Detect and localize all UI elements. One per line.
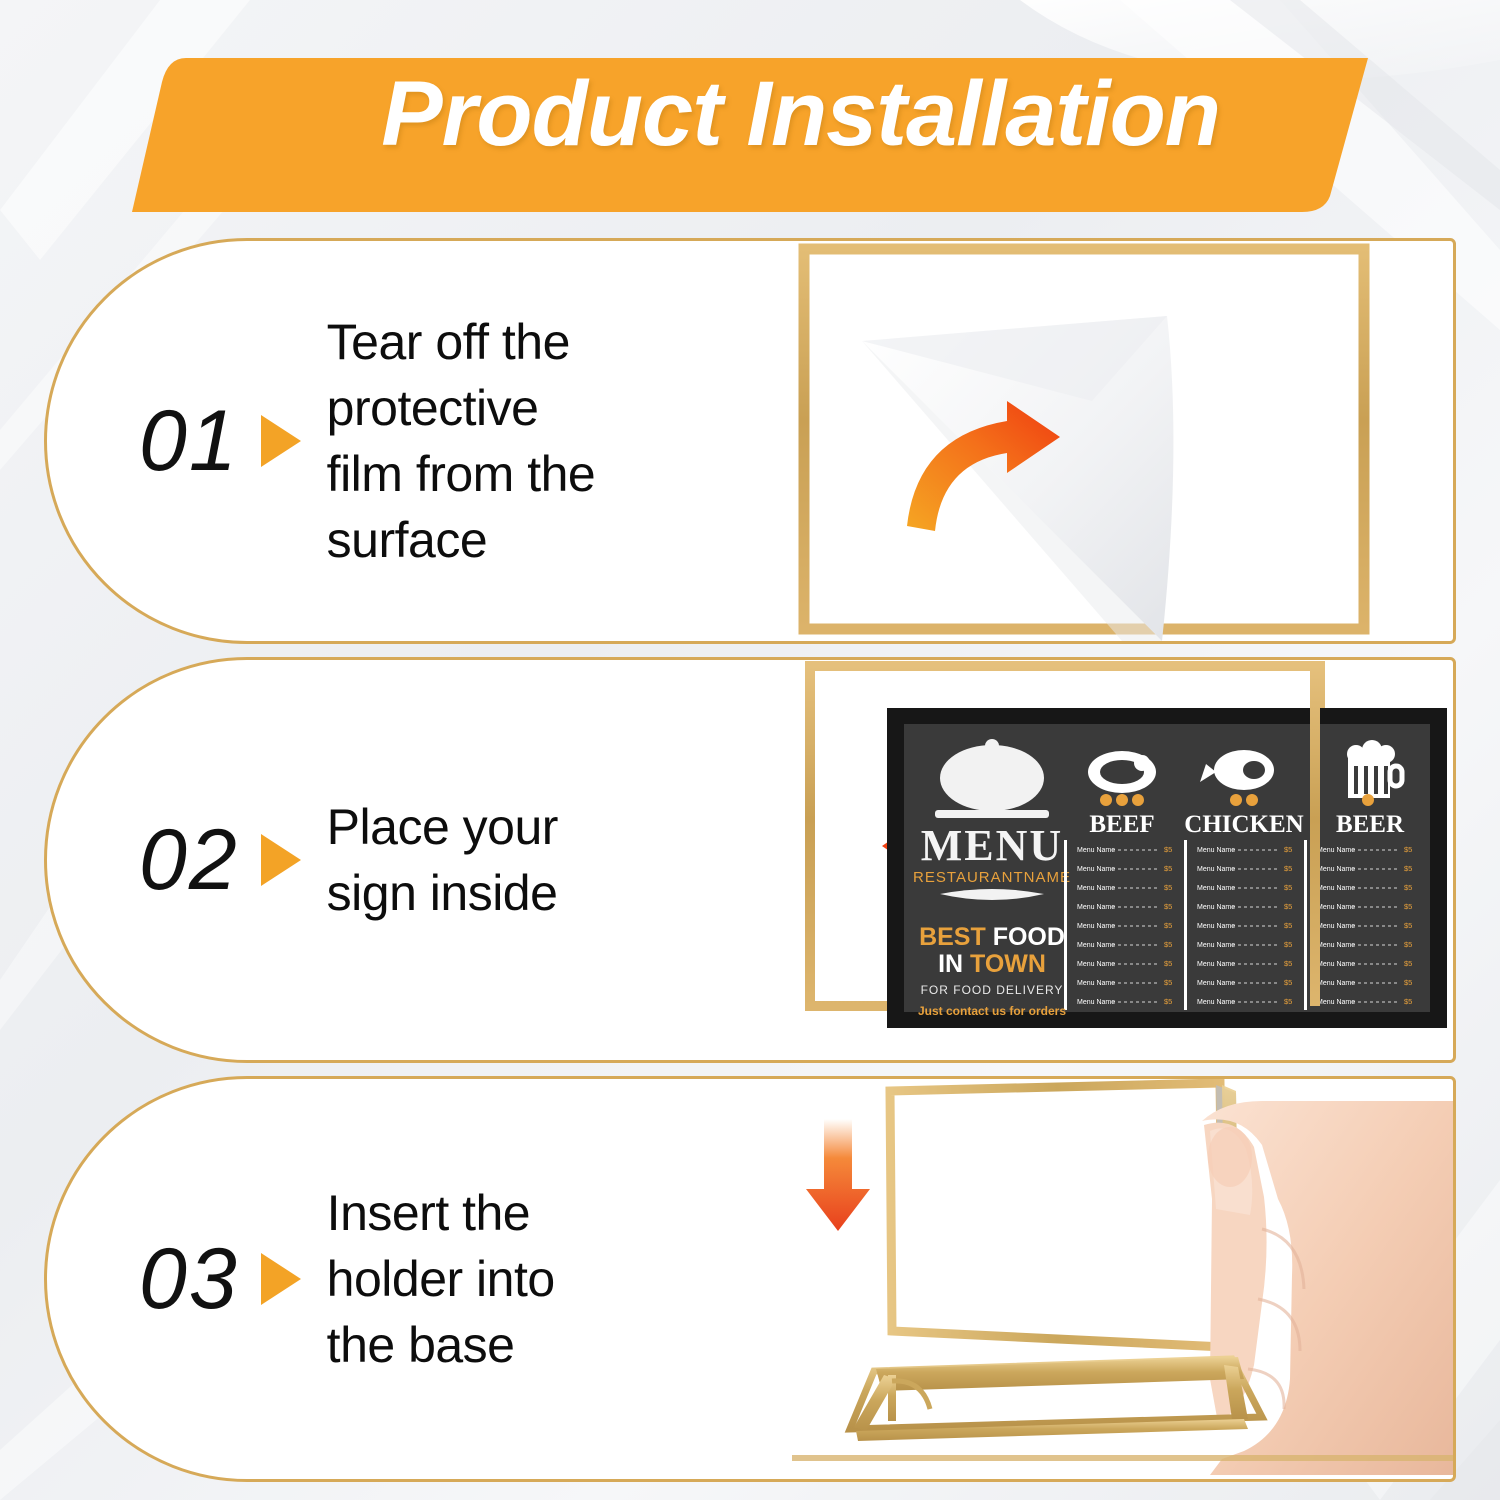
svg-text:$5: $5 <box>1164 902 1172 911</box>
svg-text:Menu Name: Menu Name <box>1197 980 1235 987</box>
step-01-instruction: Tear off the protective film from the su… <box>327 309 596 573</box>
svg-text:$5: $5 <box>1284 959 1292 968</box>
frame-with-menu-card-icon: MENU RESTAURANTNAME BEST FOOD IN TOWN FO… <box>792 660 1456 1060</box>
svg-text:Menu Name: Menu Name <box>1317 961 1355 968</box>
svg-text:Just contact us for orders: Just contact us for orders <box>918 1004 1066 1018</box>
svg-text:Menu Name: Menu Name <box>1317 866 1355 873</box>
svg-text:$5: $5 <box>1284 845 1292 854</box>
svg-text:$5: $5 <box>1284 921 1292 930</box>
svg-text:Menu Name: Menu Name <box>1077 980 1115 987</box>
svg-text:BEST FOOD: BEST FOOD <box>919 923 1065 951</box>
step-03-text-area: 03 Insert the holder into the base <box>47 1180 792 1378</box>
svg-text:$5: $5 <box>1404 940 1412 949</box>
svg-text:$5: $5 <box>1164 997 1172 1006</box>
svg-text:$5: $5 <box>1404 883 1412 892</box>
svg-text:Menu Name: Menu Name <box>1317 999 1355 1006</box>
svg-text:Menu Name: Menu Name <box>1317 904 1355 911</box>
svg-text:$5: $5 <box>1164 959 1172 968</box>
svg-text:Menu Name: Menu Name <box>1317 847 1355 854</box>
svg-text:$5: $5 <box>1164 978 1172 987</box>
svg-text:$5: $5 <box>1404 959 1412 968</box>
svg-text:Menu Name: Menu Name <box>1197 923 1235 930</box>
svg-text:Menu Name: Menu Name <box>1197 847 1235 854</box>
svg-text:$5: $5 <box>1284 883 1292 892</box>
step-02-number: 02 <box>139 817 239 903</box>
step-01-number: 01 <box>139 398 239 484</box>
menu-phone-number: +091234567 loc. 123 <box>974 1031 1174 1046</box>
step-03-number: 03 <box>139 1236 239 1322</box>
svg-text:Menu Name: Menu Name <box>1077 847 1115 854</box>
svg-text:Menu Name: Menu Name <box>1077 904 1115 911</box>
svg-text:Menu Name: Menu Name <box>1197 866 1235 873</box>
svg-text:Menu Name: Menu Name <box>1197 942 1235 949</box>
svg-text:Menu Name: Menu Name <box>1317 980 1355 987</box>
step-02-text-area: 02 Place your sign inside <box>47 794 792 926</box>
acrylic-sign-holder <box>890 1083 1240 1351</box>
svg-text:Menu Name: Menu Name <box>1077 961 1115 968</box>
svg-text:Menu Name: Menu Name <box>1197 961 1235 968</box>
svg-text:$5: $5 <box>1284 940 1292 949</box>
triangle-bullet-icon <box>261 834 301 886</box>
svg-text:$5: $5 <box>1164 864 1172 873</box>
header-banner: Product Installation <box>0 0 1500 230</box>
step-01-illustration <box>792 241 1453 641</box>
svg-text:$5: $5 <box>1404 997 1412 1006</box>
svg-text:Menu Name: Menu Name <box>1197 999 1235 1006</box>
svg-text:$5: $5 <box>1284 997 1292 1006</box>
svg-text:$5: $5 <box>1404 921 1412 930</box>
svg-text:$5: $5 <box>1404 845 1412 854</box>
frame-with-peeling-film-icon <box>792 241 1452 641</box>
banner-title: Product Installation <box>0 62 1280 167</box>
step-02-instruction: Place your sign inside <box>327 794 558 926</box>
step-01-text-area: 01 Tear off the protective film from the… <box>47 309 792 573</box>
svg-text:$5: $5 <box>1404 864 1412 873</box>
hand-inserting-holder-into-base-icon <box>792 1079 1456 1479</box>
svg-text:Menu Name: Menu Name <box>1317 885 1355 892</box>
svg-text:CHICKEN: CHICKEN <box>1184 811 1303 838</box>
svg-text:Menu Name: Menu Name <box>1077 866 1115 873</box>
step-02-illustration: MENU RESTAURANTNAME BEST FOOD IN TOWN FO… <box>792 660 1453 1060</box>
svg-text:$5: $5 <box>1404 978 1412 987</box>
svg-text:$5: $5 <box>1164 883 1172 892</box>
svg-text:Menu Name: Menu Name <box>1317 942 1355 949</box>
svg-text:$5: $5 <box>1404 902 1412 911</box>
step-03-instruction: Insert the holder into the base <box>327 1180 555 1378</box>
step-card-02: 02 Place your sign inside <box>44 657 1456 1063</box>
svg-text:Menu Name: Menu Name <box>1197 904 1235 911</box>
svg-text:$5: $5 <box>1164 940 1172 949</box>
gold-base-stand <box>850 1357 1262 1441</box>
svg-text:RESTAURANTNAME: RESTAURANTNAME <box>913 869 1071 886</box>
svg-text:$5: $5 <box>1164 845 1172 854</box>
svg-text:IN TOWN: IN TOWN <box>938 950 1046 978</box>
svg-text:$5: $5 <box>1284 902 1292 911</box>
svg-text:BEER: BEER <box>1336 811 1405 838</box>
menu-card: MENU RESTAURANTNAME BEST FOOD IN TOWN FO… <box>887 708 1447 1028</box>
svg-text:MENU: MENU <box>921 821 1063 870</box>
svg-text:Menu Name: Menu Name <box>1317 923 1355 930</box>
triangle-bullet-icon <box>261 1253 301 1305</box>
svg-text:Menu Name: Menu Name <box>1077 942 1115 949</box>
svg-text:Menu Name: Menu Name <box>1077 923 1115 930</box>
svg-text:FOR FOOD DELIVERY: FOR FOOD DELIVERY <box>921 983 1064 997</box>
step-card-01: 01 Tear off the protective film from the… <box>44 238 1456 644</box>
triangle-bullet-icon <box>261 415 301 467</box>
svg-text:$5: $5 <box>1284 864 1292 873</box>
installation-steps-list: 01 Tear off the protective film from the… <box>44 238 1456 1482</box>
svg-text:$5: $5 <box>1164 921 1172 930</box>
svg-text:BEEF: BEEF <box>1089 811 1154 838</box>
svg-text:$5: $5 <box>1284 978 1292 987</box>
step-card-03: 03 Insert the holder into the base <box>44 1076 1456 1482</box>
step-03-illustration <box>792 1079 1453 1479</box>
svg-text:Menu Name: Menu Name <box>1197 885 1235 892</box>
svg-text:Menu Name: Menu Name <box>1077 999 1115 1006</box>
svg-text:Menu Name: Menu Name <box>1077 885 1115 892</box>
